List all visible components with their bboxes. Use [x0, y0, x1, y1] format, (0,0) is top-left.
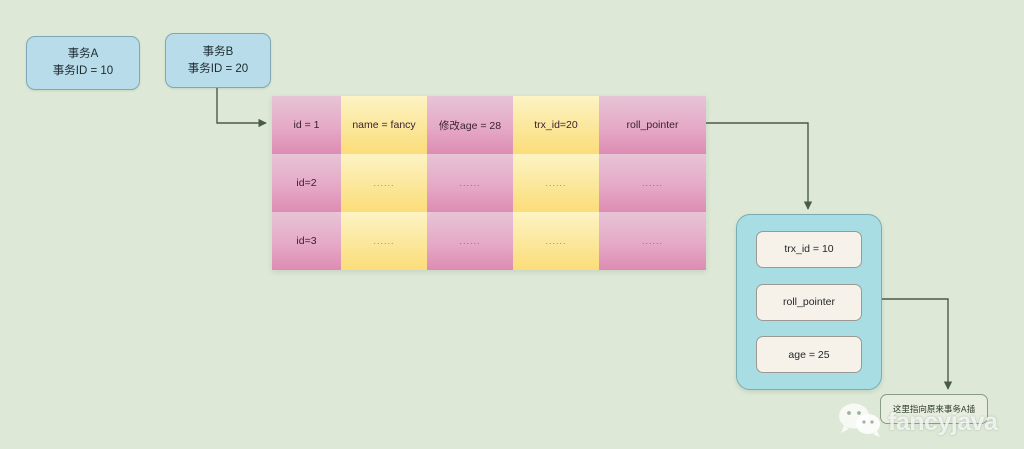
table-cell: id=2: [272, 154, 341, 212]
table-cell: 修改age = 28: [427, 96, 513, 154]
undo-log-item-trx-id[interactable]: trx_id = 10: [756, 231, 862, 268]
transaction-b-id: 事务ID = 20: [188, 61, 248, 78]
table-cell: ......: [341, 154, 427, 212]
row-record-table: id = 1 name = fancy 修改age = 28 trx_id=20…: [272, 96, 706, 270]
annotation-text: 这里指向原来事务A插: [893, 404, 975, 414]
undo-log-item-label: age = 25: [788, 349, 829, 361]
wechat-logo-icon: [838, 402, 882, 438]
table-cell: ......: [513, 212, 599, 270]
transaction-a-id: 事务ID = 10: [53, 63, 113, 80]
table-cell: id=3: [272, 212, 341, 270]
connector-rollpointer-to-undolog: [706, 123, 808, 209]
diagram-canvas: 事务A 事务ID = 10 事务B 事务ID = 20 id = 1 name …: [0, 0, 1024, 449]
connector-txnb-to-row: [217, 86, 266, 123]
table-cell: ......: [599, 212, 706, 270]
undo-log-item-label: roll_pointer: [783, 296, 835, 308]
table-cell-roll-pointer: roll_pointer: [599, 96, 706, 154]
transaction-b-title: 事务B: [203, 44, 234, 61]
undo-log-item-age[interactable]: age = 25: [756, 336, 862, 373]
undo-log-container: trx_id = 10 roll_pointer age = 25: [736, 214, 882, 390]
table-cell: trx_id=20: [513, 96, 599, 154]
table-cell: name = fancy: [341, 96, 427, 154]
table-cell: ......: [427, 212, 513, 270]
transaction-b-box[interactable]: 事务B 事务ID = 20: [165, 33, 271, 88]
table-cell: ......: [341, 212, 427, 270]
undo-log-item-roll-pointer[interactable]: roll_pointer: [756, 284, 862, 321]
table-cell: id = 1: [272, 96, 341, 154]
annotation-box: 这里指向原来事务A插: [880, 394, 988, 424]
transaction-a-title: 事务A: [68, 46, 99, 63]
table-cell: ......: [599, 154, 706, 212]
table-cell: ......: [513, 154, 599, 212]
transaction-a-box[interactable]: 事务A 事务ID = 10: [26, 36, 140, 90]
undo-log-item-label: trx_id = 10: [784, 243, 833, 255]
table-cell: ......: [427, 154, 513, 212]
